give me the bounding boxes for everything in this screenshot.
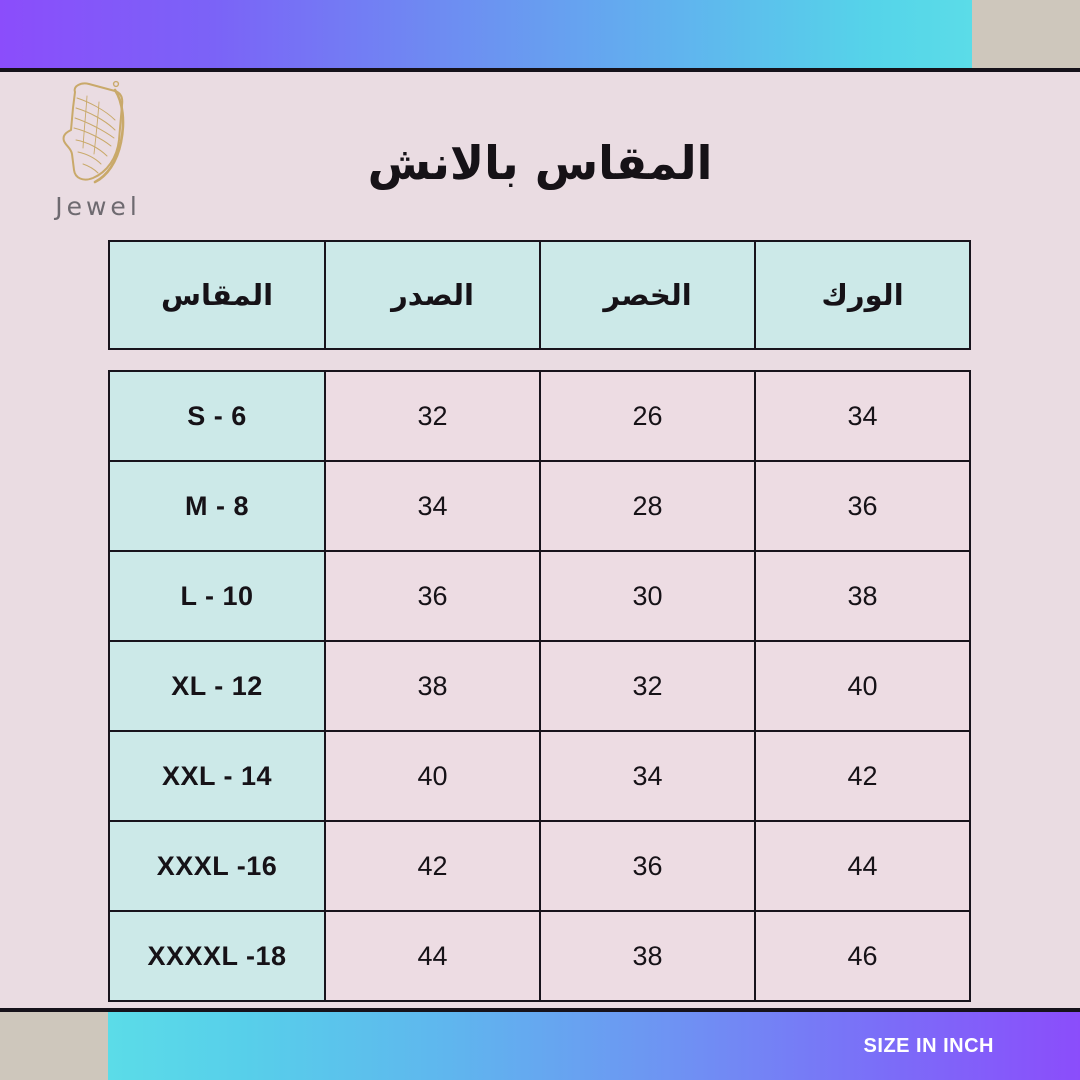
cell-hips: 40 bbox=[755, 641, 970, 731]
table-row: XXL - 14 40 34 42 bbox=[109, 731, 970, 821]
table-row: XL - 12 38 32 40 bbox=[109, 641, 970, 731]
cell-waist: 34 bbox=[540, 731, 755, 821]
cell-chest: 42 bbox=[325, 821, 540, 911]
cell-hips: 36 bbox=[755, 461, 970, 551]
cell-chest: 44 bbox=[325, 911, 540, 1001]
beige-plate-top-right bbox=[972, 0, 1080, 68]
table-row: S - 6 32 26 34 bbox=[109, 371, 970, 461]
cell-chest: 38 bbox=[325, 641, 540, 731]
cell-chest: 32 bbox=[325, 371, 540, 461]
column-header-waist: الخصر bbox=[540, 241, 755, 349]
cell-hips: 38 bbox=[755, 551, 970, 641]
column-header-size: المقاس bbox=[109, 241, 325, 349]
size-unit-label: SIZE IN INCH bbox=[864, 1035, 994, 1058]
cell-waist: 28 bbox=[540, 461, 755, 551]
table-header-row: المقاس الصدر الخصر الورك bbox=[109, 241, 970, 349]
cell-size: XXXL -16 bbox=[109, 821, 325, 911]
table-row: XXXL -16 42 36 44 bbox=[109, 821, 970, 911]
cell-hips: 44 bbox=[755, 821, 970, 911]
cell-hips: 34 bbox=[755, 371, 970, 461]
cell-size: XXXXL -18 bbox=[109, 911, 325, 1001]
table-row: M - 8 34 28 36 bbox=[109, 461, 970, 551]
cell-chest: 36 bbox=[325, 551, 540, 641]
cell-chest: 34 bbox=[325, 461, 540, 551]
size-chart-header-table: المقاس الصدر الخصر الورك bbox=[108, 240, 971, 350]
beige-plate-bottom-left bbox=[0, 1010, 108, 1080]
cell-size: XXL - 14 bbox=[109, 731, 325, 821]
cell-waist: 38 bbox=[540, 911, 755, 1001]
top-gradient-bar bbox=[0, 0, 972, 68]
page-title: المقاس بالانش bbox=[0, 136, 1080, 190]
top-divider-rule bbox=[0, 68, 1080, 72]
cell-waist: 26 bbox=[540, 371, 755, 461]
cell-size: S - 6 bbox=[109, 371, 325, 461]
table-row: XXXXL -18 44 38 46 bbox=[109, 911, 970, 1001]
size-chart-page: Jewel المقاس بالانش المقاس الصدر الخصر ا… bbox=[0, 0, 1080, 1080]
cell-hips: 46 bbox=[755, 911, 970, 1001]
cell-chest: 40 bbox=[325, 731, 540, 821]
table-row: L - 10 36 30 38 bbox=[109, 551, 970, 641]
cell-waist: 30 bbox=[540, 551, 755, 641]
column-header-hips: الورك bbox=[755, 241, 970, 349]
size-chart-body-table: S - 6 32 26 34 M - 8 34 28 36 L - 10 36 … bbox=[108, 370, 971, 1002]
cell-hips: 42 bbox=[755, 731, 970, 821]
cell-size: M - 8 bbox=[109, 461, 325, 551]
bottom-gradient-bar: SIZE IN INCH bbox=[108, 1012, 1080, 1080]
cell-size: L - 10 bbox=[109, 551, 325, 641]
cell-waist: 36 bbox=[540, 821, 755, 911]
column-header-chest: الصدر bbox=[325, 241, 540, 349]
brand-wordmark: Jewel bbox=[55, 192, 141, 221]
cell-waist: 32 bbox=[540, 641, 755, 731]
cell-size: XL - 12 bbox=[109, 641, 325, 731]
